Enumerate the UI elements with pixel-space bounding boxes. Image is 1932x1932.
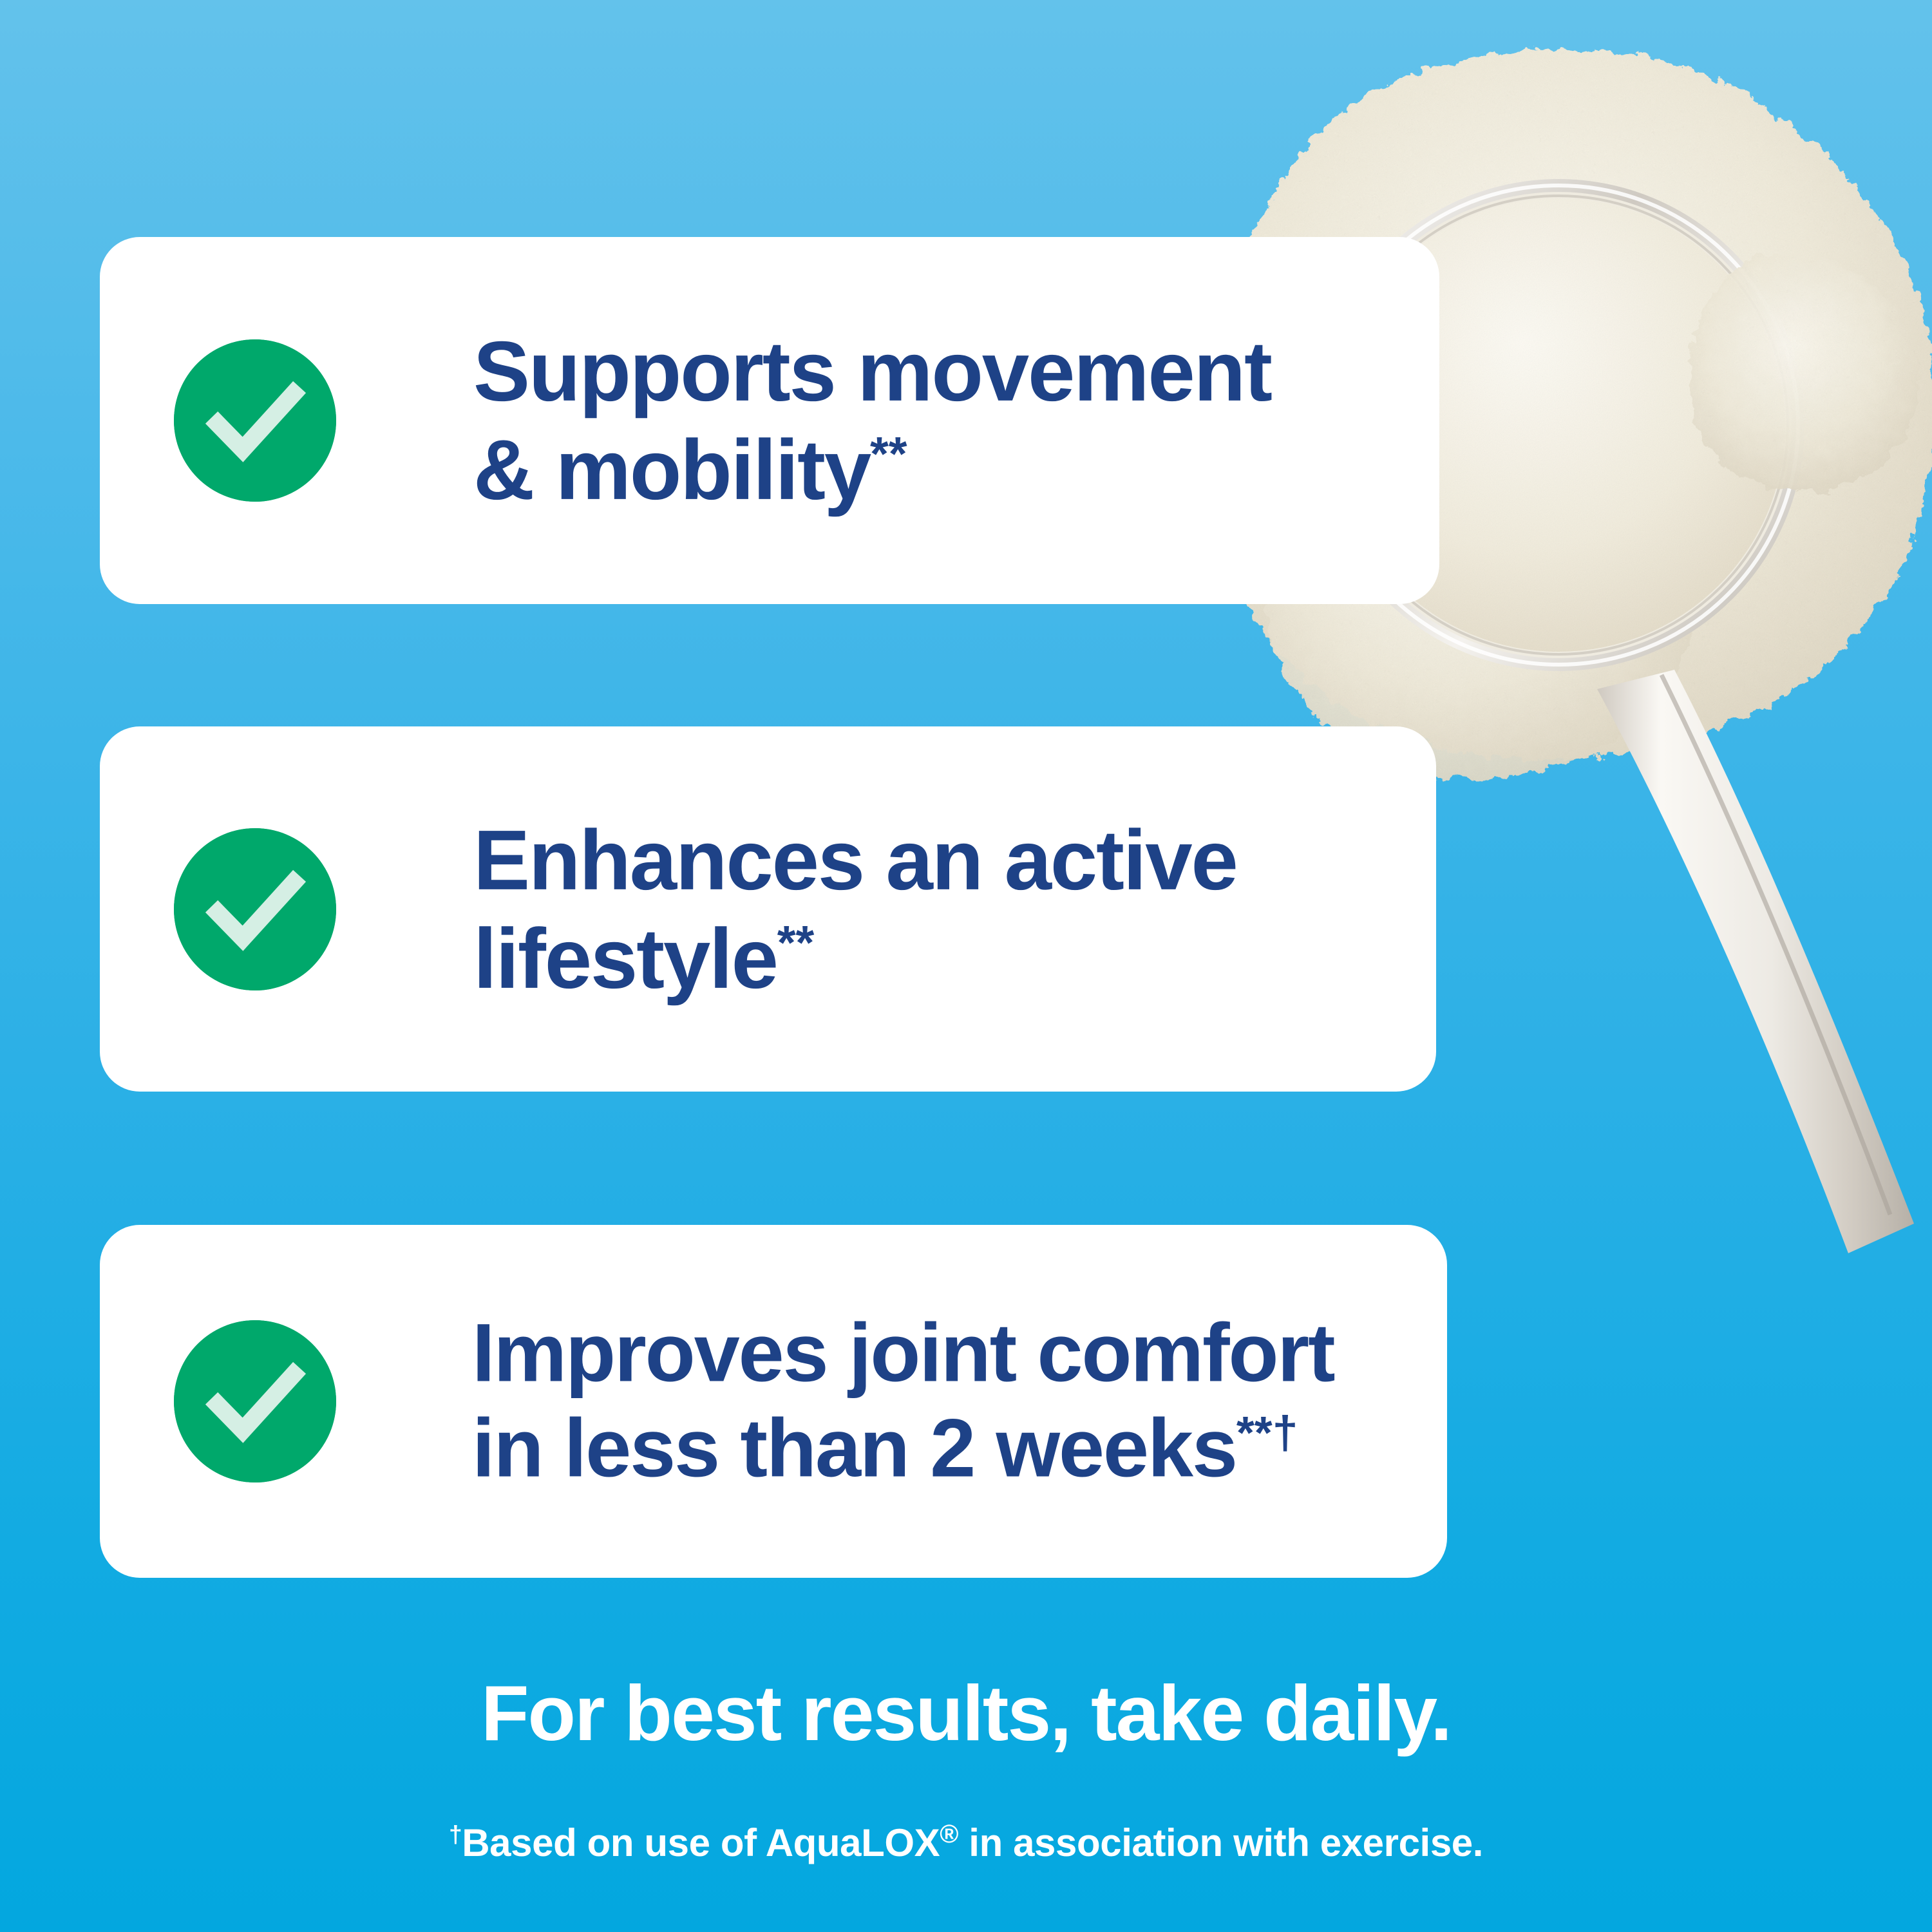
footnote: †Based on use of AquaLOX® in association… — [0, 1820, 1932, 1866]
benefit-line-3a: Improves joint comfort — [472, 1307, 1334, 1399]
benefit-text-1: Supports movement& mobility** — [473, 322, 1271, 519]
benefit-superscript-2: ** — [777, 916, 815, 969]
promo-poster: Supports movement& mobility** Enhances a… — [0, 0, 1932, 1932]
footnote-part-1: Based on use of AquaLOX — [462, 1821, 940, 1864]
benefit-line-2a: Enhances an active — [473, 812, 1237, 907]
check-icon — [174, 828, 336, 990]
benefit-text-2: Enhances an activelifestyle** — [473, 810, 1237, 1007]
benefit-card-3: Improves joint comfortin less than 2 wee… — [100, 1225, 1447, 1578]
benefit-superscript-1: ** — [870, 427, 907, 480]
footnote-part-2: in association with exercise. — [958, 1821, 1483, 1864]
benefit-line-3b: in less than 2 weeks — [472, 1403, 1236, 1495]
check-icon — [174, 339, 336, 502]
tagline: For best results, take daily. — [0, 1670, 1932, 1756]
footnote-dagger: † — [449, 1821, 462, 1848]
benefit-line-2b: lifestyle — [473, 911, 777, 1006]
check-icon — [174, 1320, 336, 1482]
benefit-superscript-3: **† — [1236, 1407, 1298, 1459]
benefit-line-1b: & mobility — [473, 422, 870, 517]
benefit-card-1: Supports movement& mobility** — [100, 237, 1439, 604]
benefit-line-1a: Supports movement — [473, 324, 1271, 419]
benefit-card-2: Enhances an activelifestyle** — [100, 726, 1436, 1092]
benefit-text-3: Improves joint comfortin less than 2 wee… — [472, 1306, 1334, 1497]
registered-mark: ® — [940, 1820, 958, 1848]
